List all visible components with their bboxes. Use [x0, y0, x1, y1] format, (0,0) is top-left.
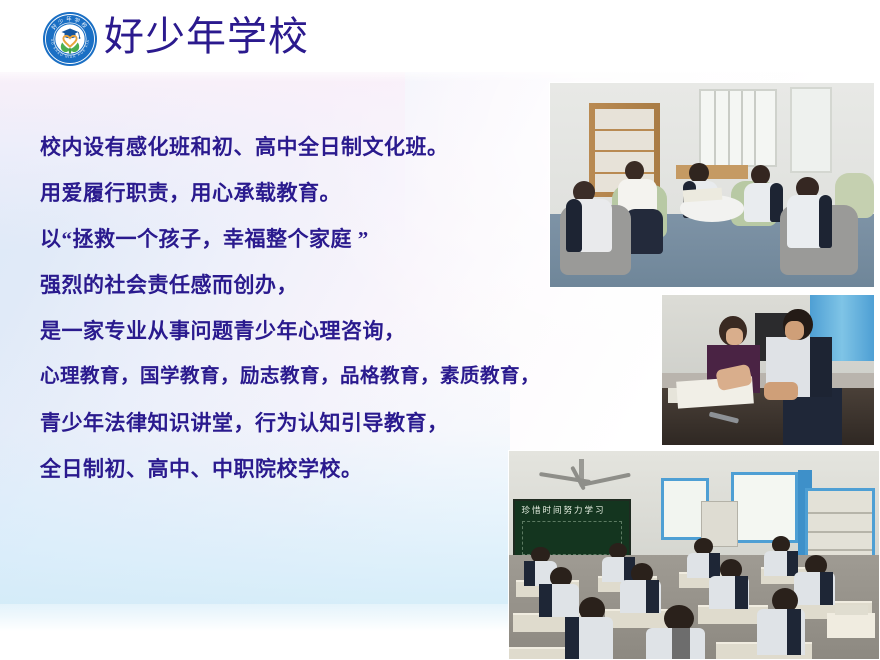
body-line: 用爱履行职责，用心承载教育。 — [40, 170, 570, 216]
body-line: 全日制初、高中、中职院校学校。 — [40, 446, 570, 492]
photo-one-on-one-tutoring — [661, 294, 875, 446]
body-line: 是一家专业从事问题青少年心理咨询， — [40, 308, 570, 354]
body-line: 以“拯救一个孩子，幸福整个家庭 ” — [40, 216, 570, 262]
body-line: 青少年法律知识讲堂，行为认知引导教育， — [40, 400, 570, 446]
school-logo-icon: 好少年学校 HAO SHAO NIAN XUE XIAO — [42, 11, 98, 67]
page-title: 好少年学校 — [104, 17, 309, 59]
body-line: 强烈的社会责任感而创办， — [40, 262, 570, 308]
photo-group-counseling — [549, 82, 875, 288]
body-line: 心理教育，国学教育，励志教育，品格教育，素质教育， — [40, 354, 570, 400]
photo-classroom-study: 珍惜时间努力学习 — [508, 450, 880, 660]
presentation-slide: 好少年学校 HAO SHAO NIAN XUE XIAO 好少年学校 — [0, 0, 880, 660]
slide-header: 好少年学校 HAO SHAO NIAN XUE XIAO 好少年学校 — [0, 0, 880, 76]
body-text-block: 校内设有感化班和初、高中全日制文化班。 用爱履行职责，用心承载教育。 以“拯救一… — [40, 124, 570, 492]
blackboard-slogan: 珍惜时间努力学习 — [522, 504, 625, 516]
body-line: 校内设有感化班和初、高中全日制文化班。 — [40, 124, 570, 170]
